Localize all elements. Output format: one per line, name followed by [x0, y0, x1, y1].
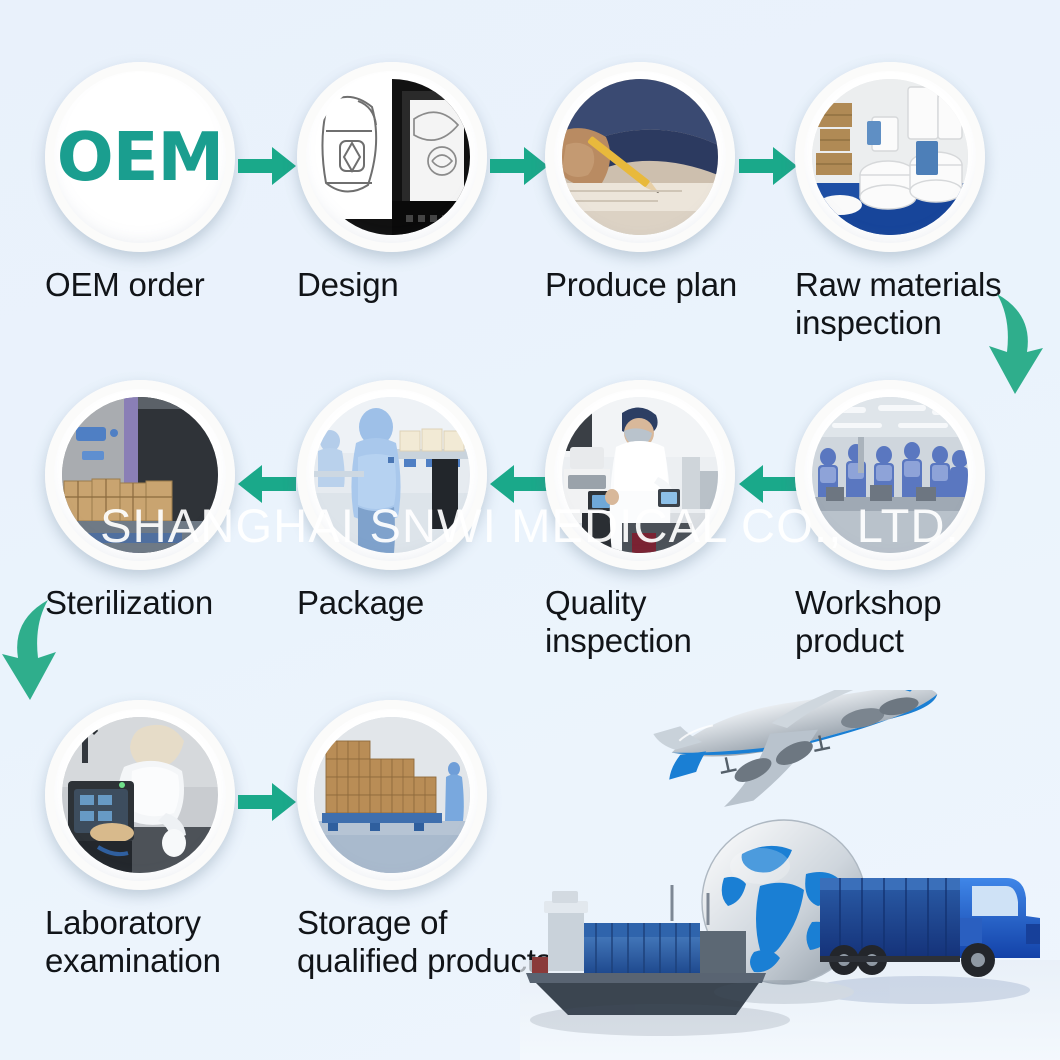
step-label-workshop-product: Workshop product: [795, 584, 995, 661]
photo-design-monitor-sketch: [314, 79, 470, 235]
step-label-laboratory-examination: Laboratory examination: [45, 904, 245, 981]
photo-technician-inspecting: [562, 397, 718, 553]
step-bubble-oem-order: OEM: [45, 62, 235, 252]
photo-sterilization-cartons: [62, 397, 218, 553]
step-laboratory-examination[interactable]: Laboratory examination: [45, 700, 245, 981]
photo-warehouse-pallets: [314, 717, 470, 873]
arrow-left-icon: [488, 460, 550, 508]
step-bubble-quality-inspection: [545, 380, 735, 570]
process-flow-infographic: OEM OEM order: [0, 0, 1060, 1060]
step-sterilization[interactable]: Sterilization: [45, 380, 245, 622]
step-label-produce-plan: Produce plan: [545, 266, 745, 304]
oem-badge-text: OEM: [57, 118, 223, 196]
step-label-sterilization: Sterilization: [45, 584, 245, 622]
arrow-right-icon: [236, 778, 298, 826]
arrow-right-icon: [236, 142, 298, 190]
step-label-design: Design: [297, 266, 497, 304]
arrow-left-icon: [737, 460, 799, 508]
curved-arrow-down-icon: [0, 596, 68, 704]
global-shipping-illustration: [520, 690, 1060, 1060]
step-design[interactable]: Design: [297, 62, 497, 304]
step-bubble-produce-plan: [545, 62, 735, 252]
photo-cleanroom-workshop: [812, 397, 968, 553]
step-oem-order[interactable]: OEM OEM order: [45, 62, 245, 304]
photo-lab-testing-device: [62, 717, 218, 873]
step-bubble-package: [297, 380, 487, 570]
step-bubble-workshop-product: [795, 380, 985, 570]
step-quality-inspection[interactable]: Quality inspection: [545, 380, 745, 661]
photo-warehouse-raw-materials: [812, 79, 968, 235]
step-bubble-design: [297, 62, 487, 252]
arrow-right-icon: [488, 142, 550, 190]
step-bubble-raw-materials: [795, 62, 985, 252]
step-package[interactable]: Package: [297, 380, 497, 622]
step-bubble-laboratory-examination: [45, 700, 235, 890]
step-label-package: Package: [297, 584, 497, 622]
photo-worker-packaging: [314, 397, 470, 553]
arrow-right-icon: [737, 142, 799, 190]
step-label-oem-order: OEM order: [45, 266, 245, 304]
step-label-quality-inspection: Quality inspection: [545, 584, 745, 661]
step-produce-plan[interactable]: Produce plan: [545, 62, 745, 304]
step-bubble-sterilization: [45, 380, 235, 570]
step-bubble-storage: [297, 700, 487, 890]
photo-hand-writing-pencil: [562, 79, 718, 235]
arrow-left-icon: [236, 460, 298, 508]
step-workshop-product[interactable]: Workshop product: [795, 380, 995, 661]
